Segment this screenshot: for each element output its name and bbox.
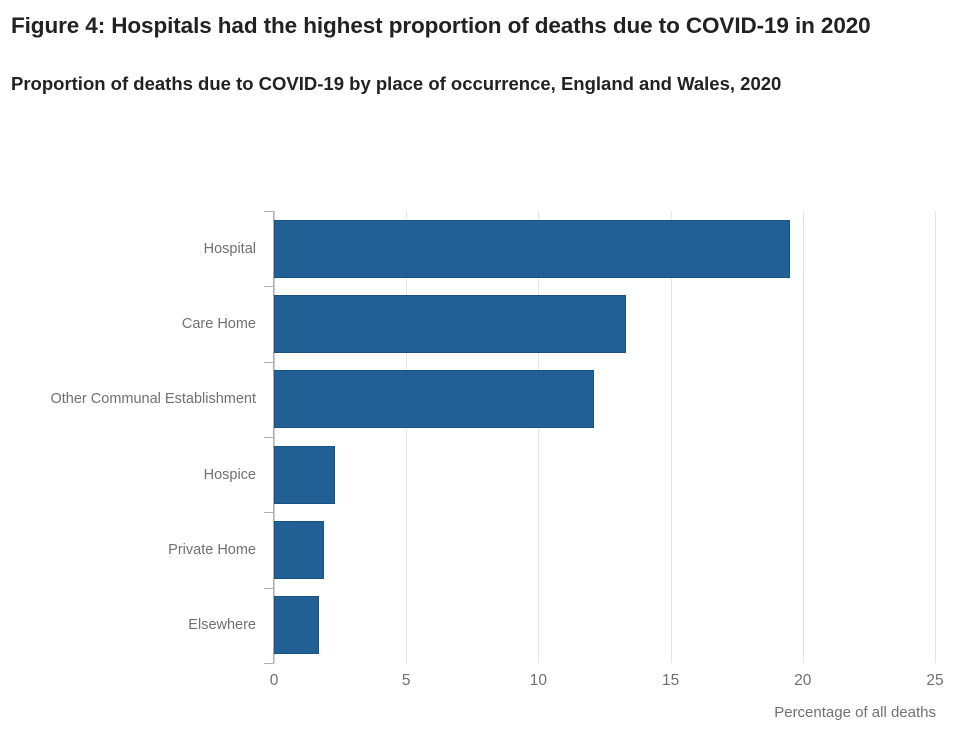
gridline-5 (406, 211, 407, 663)
category-label: Hospice (204, 466, 256, 484)
bar[interactable] (274, 370, 594, 428)
y-axis-tick (264, 286, 274, 287)
x-axis-title: Percentage of all deaths (774, 703, 936, 723)
x-tick-label: 20 (783, 671, 823, 691)
x-tick-label: 10 (518, 671, 558, 691)
x-tick-label: 25 (915, 671, 955, 691)
x-tick-label: 0 (254, 671, 294, 691)
gridline-15 (671, 211, 672, 663)
bar[interactable] (274, 596, 319, 654)
figure-container: Figure 4: Hospitals had the highest prop… (0, 0, 962, 747)
category-label: Elsewhere (188, 616, 256, 634)
y-axis-tick (264, 211, 274, 212)
category-label: Care Home (182, 315, 256, 333)
bar[interactable] (274, 220, 790, 278)
y-axis-tick (264, 588, 274, 589)
gridline-0 (274, 211, 275, 663)
y-axis-tick (264, 512, 274, 513)
gridline-20 (803, 211, 804, 663)
gridline-10 (538, 211, 539, 663)
y-axis-tick (264, 362, 274, 363)
bar[interactable] (274, 446, 335, 504)
bar-chart: HospitalCare HomeOther Communal Establis… (0, 0, 962, 747)
category-label: Other Communal Establishment (51, 390, 257, 408)
category-label: Hospital (204, 240, 256, 258)
bar[interactable] (274, 521, 324, 579)
bar[interactable] (274, 295, 626, 353)
category-label: Private Home (168, 541, 256, 559)
y-axis-tick (264, 663, 274, 664)
gridline-25 (935, 211, 936, 663)
plot-area (274, 211, 935, 663)
x-tick-label: 5 (386, 671, 426, 691)
y-axis-tick (264, 437, 274, 438)
x-tick-label: 15 (651, 671, 691, 691)
